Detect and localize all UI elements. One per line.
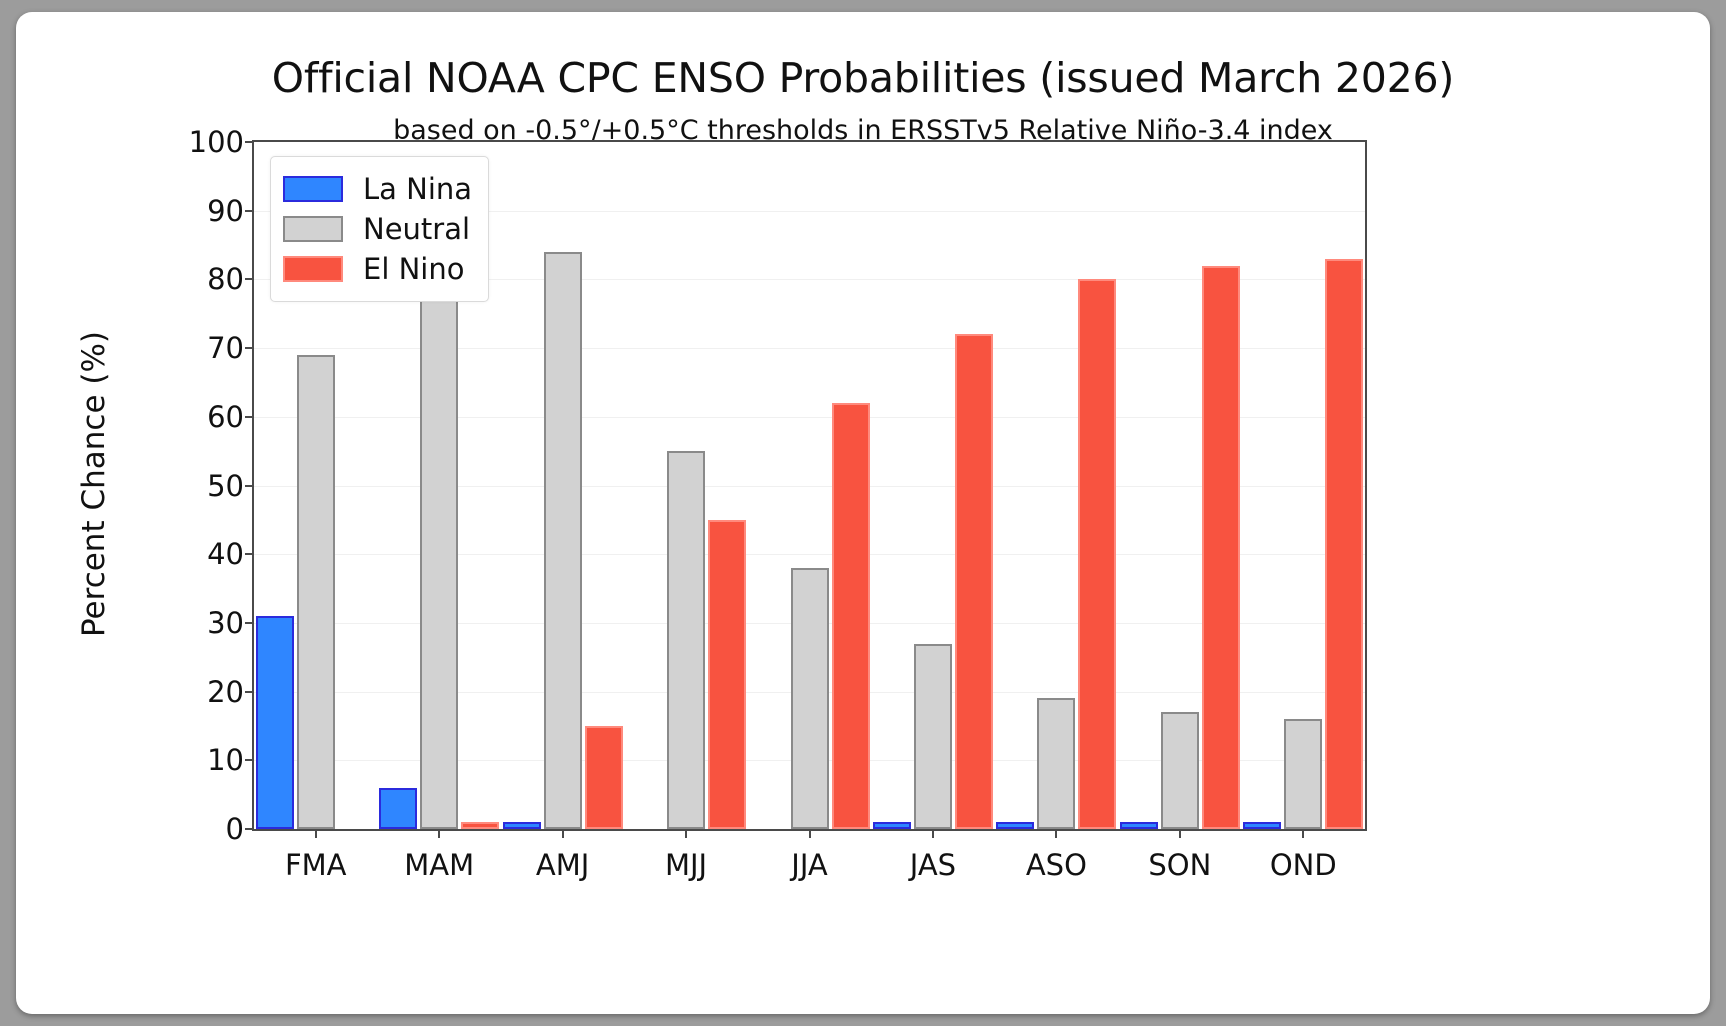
x-tick-label-mjj: MJJ (665, 848, 707, 882)
chart-title: Official NOAA CPC ENSO Probabilities (is… (16, 54, 1710, 102)
x-tick-label-jas: JAS (910, 848, 956, 882)
bar-fma-neutral (297, 355, 335, 829)
x-tick-label-mam: MAM (404, 848, 474, 882)
bar-amj-la-nina (503, 822, 541, 829)
y-tick-mark (245, 759, 254, 761)
y-tick-label: 80 (124, 262, 244, 296)
legend-item-el-nino[interactable]: El Nino (283, 249, 472, 289)
x-tick-label-ond: OND (1270, 848, 1337, 882)
bar-son-el-nino (1202, 266, 1240, 829)
bar-amj-el-nino (585, 726, 623, 829)
bar-ond-la-nina (1243, 822, 1281, 829)
bar-ond-el-nino (1325, 259, 1363, 829)
bar-jja-neutral (791, 568, 829, 829)
y-tick-mark (245, 553, 254, 555)
legend-swatch-icon (283, 176, 343, 202)
bar-son-neutral (1161, 712, 1199, 829)
x-tick-mark (562, 829, 564, 838)
y-tick-label: 70 (124, 331, 244, 365)
y-tick-label: 20 (124, 675, 244, 709)
y-tick-label: 0 (124, 812, 244, 846)
bar-jas-neutral (914, 644, 952, 829)
chart-legend: La NinaNeutralEl Nino (270, 156, 489, 302)
y-tick-label: 30 (124, 606, 244, 640)
y-tick-mark (245, 622, 254, 624)
x-tick-label-son: SON (1148, 848, 1211, 882)
legend-swatch-icon (283, 216, 343, 242)
legend-label: Neutral (363, 212, 470, 246)
y-tick-mark (245, 416, 254, 418)
bar-amj-neutral (544, 252, 582, 829)
y-tick-mark (245, 278, 254, 280)
legend-label: La Nina (363, 172, 472, 206)
x-tick-mark (315, 829, 317, 838)
figure-card: Official NOAA CPC ENSO Probabilities (is… (16, 12, 1710, 1014)
y-axis-label: Percent Chance (%) (76, 331, 112, 637)
bar-jja-el-nino (832, 403, 870, 829)
y-tick-mark (245, 347, 254, 349)
y-tick-label: 90 (124, 194, 244, 228)
legend-swatch-icon (283, 256, 343, 282)
bar-son-la-nina (1120, 822, 1158, 829)
x-tick-label-aso: ASO (1026, 848, 1087, 882)
x-tick-mark (685, 829, 687, 838)
x-tick-mark (1179, 829, 1181, 838)
y-tick-label: 40 (124, 537, 244, 571)
bar-fma-la-nina (256, 616, 294, 829)
bar-ond-neutral (1284, 719, 1322, 829)
chart-figure: Official NOAA CPC ENSO Probabilities (is… (16, 12, 1710, 1014)
bar-mam-el-nino (461, 822, 499, 829)
plot-area: 0102030405060708090100 FMAMAMAMJMJJJJAJA… (252, 140, 1367, 831)
y-tick-mark (245, 141, 254, 143)
bar-jas-el-nino (955, 334, 993, 829)
legend-label: El Nino (363, 252, 464, 286)
y-tick-mark (245, 691, 254, 693)
x-tick-mark (1302, 829, 1304, 838)
y-tick-label: 100 (124, 125, 244, 159)
legend-item-neutral[interactable]: Neutral (283, 209, 472, 249)
bar-aso-neutral (1037, 698, 1075, 829)
x-tick-mark (1055, 829, 1057, 838)
y-tick-mark (245, 828, 254, 830)
y-tick-label: 50 (124, 469, 244, 503)
bar-aso-la-nina (996, 822, 1034, 829)
bar-mjj-neutral (667, 451, 705, 829)
bar-mam-la-nina (379, 788, 417, 829)
x-tick-mark (932, 829, 934, 838)
y-tick-mark (245, 210, 254, 212)
x-tick-mark (809, 829, 811, 838)
bar-mjj-el-nino (708, 520, 746, 829)
x-tick-label-jja: JJA (791, 848, 827, 882)
bar-jas-la-nina (873, 822, 911, 829)
x-tick-label-amj: AMJ (536, 848, 589, 882)
x-tick-mark (438, 829, 440, 838)
y-tick-mark (245, 485, 254, 487)
x-tick-label-fma: FMA (285, 848, 347, 882)
y-tick-label: 10 (124, 743, 244, 777)
legend-item-la-nina[interactable]: La Nina (283, 169, 472, 209)
y-tick-label: 60 (124, 400, 244, 434)
bar-aso-el-nino (1078, 279, 1116, 829)
